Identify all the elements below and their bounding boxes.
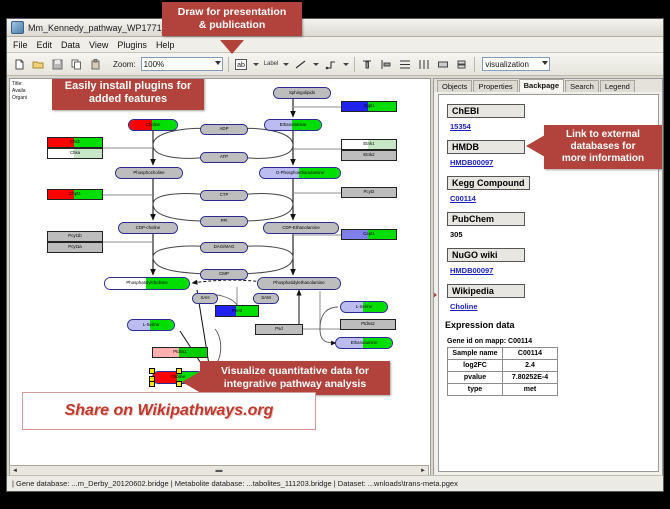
- menu-item-edit[interactable]: Edit: [37, 40, 53, 50]
- metabolite-node-ctp[interactable]: CTP: [200, 190, 248, 201]
- table-row: type met: [448, 384, 558, 396]
- node-label: Choline: [146, 123, 161, 127]
- node-label: Pcyt2: [364, 190, 375, 194]
- node-label: Etnk2: [363, 153, 374, 157]
- gene-node-sgpl1[interactable]: Sgpl1: [341, 101, 397, 112]
- node-label: Ptdss1: [173, 350, 186, 354]
- metabolite-node-atp[interactable]: ATP: [200, 152, 248, 163]
- node-label: Psd: [275, 327, 283, 331]
- gene-node-chkb[interactable]: Chkb: [47, 137, 103, 148]
- node-label: PPi: [221, 219, 228, 223]
- node-label: Phosphocholine: [133, 171, 164, 175]
- node-label: Sphingolipids: [289, 91, 315, 95]
- expr-val-log2fc: 2.4: [503, 360, 558, 372]
- metabolite-node-phosphocholine[interactable]: Phosphocholine: [115, 167, 183, 179]
- db-value-pubchem: 305: [450, 230, 658, 239]
- svg-text:ab: ab: [237, 62, 245, 69]
- open-folder-icon[interactable]: [31, 57, 45, 71]
- node-label: DAG/MAG: [214, 245, 235, 249]
- node-label: CDP-Ethanolamine: [282, 226, 320, 230]
- expr-key-type: type: [448, 384, 503, 396]
- new-file-icon[interactable]: [12, 57, 26, 71]
- node-label: Chkb: [70, 140, 80, 144]
- align-top-icon[interactable]: [360, 57, 374, 71]
- node-label: Etnk1: [363, 142, 374, 146]
- scroll-left-arrow-icon[interactable]: ◄: [10, 468, 20, 474]
- metabolite-node-l-serine[interactable]: L-Serine: [127, 319, 175, 331]
- metabolite-node-phosphatidylethanolamine[interactable]: Phosphatidylethanolamine: [257, 277, 341, 290]
- db-block-nugo: NuGO wiki HMDB00097: [447, 245, 658, 275]
- node-label: SAH: [200, 296, 209, 300]
- gene-node-pcyt1a[interactable]: Pcyt1a: [47, 242, 103, 253]
- metabolite-node-cdp-choline[interactable]: CDP-choline: [118, 222, 178, 234]
- callout-plugins-line2: added features: [89, 93, 167, 105]
- callout-links-line2: databases for: [570, 141, 635, 152]
- distribute-v-icon[interactable]: [398, 57, 412, 71]
- label-dropdown-icon[interactable]: [253, 63, 259, 66]
- visualization-combo[interactable]: visualization: [482, 57, 550, 71]
- node-label: CDP-choline: [136, 226, 161, 230]
- gene-node-chka[interactable]: Chka: [47, 148, 103, 159]
- metabolite-node-ethanolamine[interactable]: Ethanolamine: [335, 337, 393, 349]
- label-type-dropdown-icon[interactable]: [283, 63, 289, 66]
- db-block-kegg: Kegg Compound C00114: [447, 173, 658, 203]
- gene-node-pcyt2[interactable]: Pcyt2: [341, 187, 397, 198]
- db-name-nugo: NuGO wiki: [447, 248, 525, 262]
- callout-draw-line2: & publication: [199, 19, 266, 31]
- gene-node-pemt[interactable]: Pemt: [215, 305, 259, 317]
- gene-node-psd[interactable]: Psd: [255, 324, 303, 335]
- main-area: Title: Availa Organi: [7, 76, 663, 476]
- menu-item-help[interactable]: Help: [156, 40, 175, 50]
- side-pane: Objects Properties Backpage Search Legen…: [433, 78, 663, 476]
- expression-table: Sample name C00114 log2FC 2.4 pvalue 7.8…: [447, 347, 558, 396]
- connector-dropdown-icon[interactable]: [343, 63, 349, 66]
- node-label: L-Serine: [143, 323, 160, 327]
- connector-icon[interactable]: [324, 57, 338, 71]
- gene-node-ptdss2[interactable]: Ptdss2: [340, 319, 396, 330]
- visualization-value: visualization: [485, 60, 529, 69]
- metabolite-node-dag-mag[interactable]: DAG/MAG: [200, 242, 248, 253]
- distribute-h-icon[interactable]: [417, 57, 431, 71]
- callout-draw-line1: Draw for presentation: [178, 6, 287, 18]
- db-link-kegg[interactable]: C00114: [450, 194, 658, 203]
- node-label: L-Serine: [356, 305, 373, 309]
- metabolite-node-adp[interactable]: ADP: [200, 124, 248, 135]
- callout-share: Share on Wikipathways.org: [22, 392, 316, 430]
- paste-icon[interactable]: [88, 57, 102, 71]
- db-name-wikipedia: Wikipedia: [447, 284, 525, 298]
- callout-links-line1: Link to external: [566, 129, 640, 140]
- table-row: Sample name C00114: [448, 348, 558, 360]
- metabolite-node-l-serine[interactable]: L-Serine: [340, 301, 388, 313]
- node-label: Ethanolamine: [351, 341, 378, 345]
- db-block-wikipedia: Wikipedia Choline: [447, 281, 658, 311]
- tab-search[interactable]: Search: [565, 80, 599, 92]
- gene-node-cept1[interactable]: Cept1: [341, 229, 397, 240]
- status-bar: | Gene database: ...m_Derby_20120602.bri…: [7, 475, 663, 491]
- toolbar-separator-3: [474, 57, 475, 72]
- node-label: O-Phosphoethanolamine: [276, 171, 325, 175]
- node-label: Ethanolamine: [280, 123, 307, 127]
- node-label: CMP: [219, 272, 229, 276]
- node-label: ADP: [219, 127, 228, 131]
- table-row: pvalue 7.80252E-4: [448, 372, 558, 384]
- gene-node-chpt1[interactable]: Chpt1: [47, 189, 103, 200]
- table-row: log2FC 2.4: [448, 360, 558, 372]
- expr-key-pvalue: pvalue: [448, 372, 503, 384]
- metabolite-node-sah[interactable]: SAH: [192, 293, 218, 304]
- db-name-pubchem: PubChem: [447, 212, 525, 226]
- align-left-icon[interactable]: [379, 57, 393, 71]
- label-text: Label: [264, 61, 279, 67]
- node-label: Pcyt1b: [68, 234, 81, 238]
- tab-properties[interactable]: Properties: [473, 80, 517, 92]
- metabolite-node-cmp[interactable]: CMP: [200, 269, 248, 280]
- metabolite-node-sphingolipids[interactable]: Sphingolipids: [273, 87, 331, 99]
- group-icon[interactable]: [436, 57, 450, 71]
- tab-backpage[interactable]: Backpage: [519, 79, 564, 92]
- node-label: Pemt: [232, 309, 242, 313]
- db-link-nugo[interactable]: HMDB00097: [450, 266, 658, 275]
- menu-item-plugins[interactable]: Plugins: [117, 40, 147, 50]
- callout-visualize: Visualize quantitative data for integrat…: [200, 361, 390, 395]
- node-label: Cept1: [363, 232, 375, 236]
- toolbar: Zoom: 100% ab Label: [7, 53, 663, 76]
- side-pane-tabs: Objects Properties Backpage Search Legen…: [434, 79, 662, 92]
- callout-links: Link to external databases for more info…: [544, 125, 662, 169]
- metabolite-node-phosphatidylcholines[interactable]: Phosphatidylcholines: [104, 277, 190, 290]
- gene-node-etnk2[interactable]: Etnk2: [341, 150, 397, 161]
- db-link-wikipedia[interactable]: Choline: [450, 302, 658, 311]
- tab-legend[interactable]: Legend: [600, 80, 635, 92]
- zoom-label: Zoom:: [113, 60, 136, 69]
- metabolite-node-ppi[interactable]: PPi: [200, 216, 248, 227]
- app-icon: [11, 21, 24, 34]
- gene-node-etnk1[interactable]: Etnk1: [341, 139, 397, 150]
- node-label: CTP: [220, 193, 229, 197]
- gene-node-ptdss1[interactable]: Ptdss1: [152, 347, 208, 358]
- metabolite-node-sam[interactable]: SAM: [253, 293, 279, 304]
- chevron-down-icon: [215, 61, 221, 65]
- db-block-pubchem: PubChem 305: [447, 209, 658, 239]
- callout-plugins: Easily install plugins for added feature…: [52, 78, 204, 110]
- callout-links-arrow-tail: [433, 288, 437, 302]
- metabolite-node-ethanolamine[interactable]: Ethanolamine: [264, 119, 322, 131]
- node-label: Sgpl1: [363, 104, 374, 108]
- metabolite-node-choline[interactable]: Choline: [128, 119, 178, 131]
- node-label: Chpt1: [69, 192, 81, 196]
- line-icon[interactable]: [294, 57, 308, 71]
- gene-node-pcyt1b[interactable]: Pcyt1b: [47, 231, 103, 242]
- menu-item-file[interactable]: File: [13, 40, 28, 50]
- scroll-right-arrow-icon[interactable]: ►: [418, 468, 428, 474]
- callout-draw: Draw for presentation & publication: [162, 2, 302, 36]
- callout-visualize-line1: Visualize quantitative data for: [221, 365, 369, 377]
- callout-visualize-line2: integrative pathway analysis: [224, 378, 366, 390]
- expression-data-heading: Expression data: [445, 320, 658, 330]
- line-dropdown-icon[interactable]: [313, 63, 319, 66]
- metabolite-node-o-phosphoethanolamine[interactable]: O-Phosphoethanolamine: [259, 167, 341, 179]
- status-text: | Gene database: ...m_Derby_20120602.bri…: [7, 479, 458, 488]
- menu-item-data[interactable]: Data: [61, 40, 80, 50]
- menu-bar: File Edit Data View Plugins Help: [7, 37, 663, 53]
- node-label: Pcyt1a: [68, 245, 81, 249]
- title-bar: Mm_Kennedy_pathway_WP1771_45176.gpml: [7, 19, 663, 37]
- db-name-kegg: Kegg Compound: [447, 176, 530, 190]
- gene-id-label: Gene id on mapp: C00114: [447, 338, 658, 345]
- callout-links-line3: more information: [562, 153, 644, 164]
- expr-key-sample: Sample name: [448, 348, 503, 360]
- callout-plugins-line1: Easily install plugins for: [65, 80, 192, 92]
- node-label: SAM: [261, 296, 271, 300]
- scroll-thumb[interactable]: ▬: [216, 467, 223, 474]
- callout-visualize-arrow: [182, 371, 201, 393]
- toolbar-separator: [228, 57, 229, 72]
- node-label: Chka: [70, 151, 80, 155]
- db-name-chebi: ChEBI: [447, 104, 525, 118]
- node-label: Phosphatidylcholines: [126, 281, 167, 285]
- save-icon[interactable]: [50, 57, 64, 71]
- toolbar-separator-2: [354, 57, 355, 72]
- pathway-canvas[interactable]: Title: Availa Organi: [9, 78, 431, 476]
- db-name-hmdb: HMDB: [447, 140, 525, 154]
- stack-icon[interactable]: [455, 57, 469, 71]
- expr-val-pvalue: 7.80252E-4: [503, 372, 558, 384]
- selection-handle-5[interactable]: [149, 381, 155, 387]
- copy-icon[interactable]: [69, 57, 83, 71]
- metabolite-node-cdp-ethanolamine[interactable]: CDP-Ethanolamine: [263, 222, 339, 234]
- expr-val-type: met: [503, 384, 558, 396]
- callout-share-text: Share on Wikipathways.org: [65, 402, 274, 420]
- tab-objects[interactable]: Objects: [437, 80, 472, 92]
- node-label: Phosphatidylethanolamine: [273, 281, 325, 285]
- zoom-value: 100%: [144, 60, 164, 69]
- expr-val-sample: C00114: [503, 348, 558, 360]
- callout-draw-arrow: [220, 40, 244, 54]
- menu-item-view[interactable]: View: [89, 40, 108, 50]
- expr-key-log2fc: log2FC: [448, 360, 503, 372]
- chevron-down-icon-2: [542, 61, 548, 65]
- node-label: ATP: [220, 155, 228, 159]
- text-label-icon[interactable]: ab: [234, 57, 248, 71]
- selection-handle-0[interactable]: [149, 368, 155, 374]
- node-label: Ptdss2: [361, 322, 374, 326]
- callout-links-arrow: [526, 135, 545, 157]
- pathvisio-window: Mm_Kennedy_pathway_WP1771_45176.gpml Fil…: [6, 18, 664, 492]
- zoom-combo[interactable]: 100%: [141, 57, 223, 71]
